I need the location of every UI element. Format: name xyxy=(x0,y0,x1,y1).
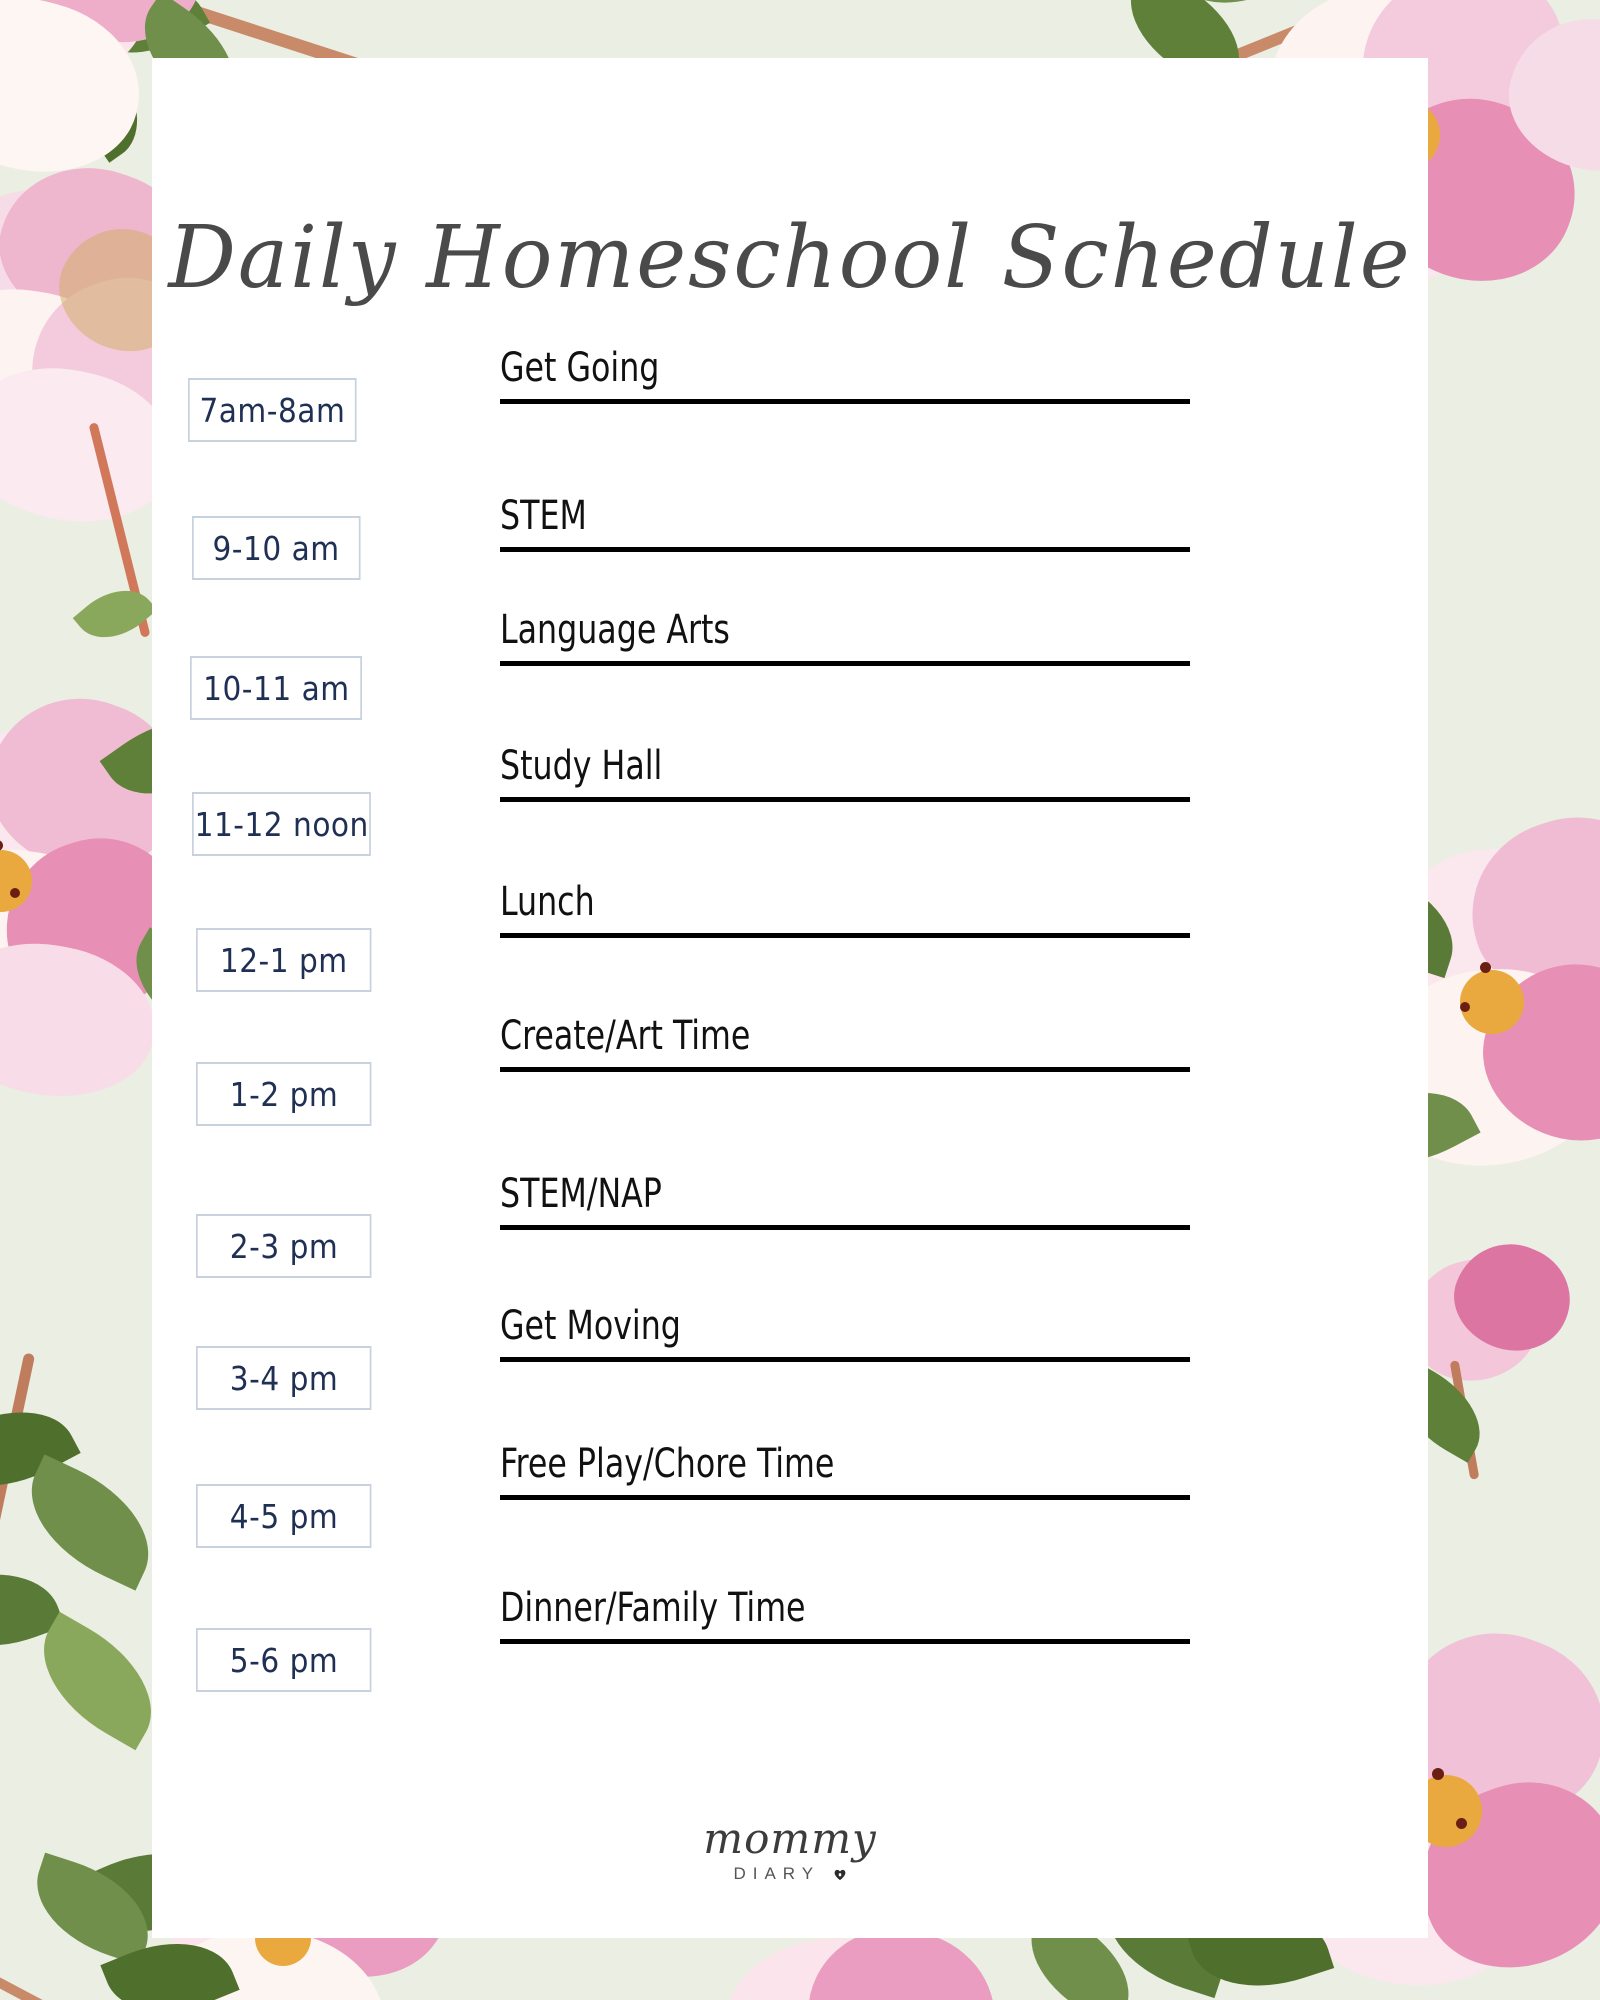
activity-entry[interactable]: Dinner/Family Time xyxy=(500,1588,1190,1644)
write-in-rule xyxy=(500,1067,1190,1072)
brand-logo-subtitle: DIARY xyxy=(733,1864,820,1884)
time-slot-label: 11-12 noon xyxy=(194,805,368,844)
time-slot-label: 4-5 pm xyxy=(230,1497,338,1536)
time-slot-box[interactable]: 9-10 am xyxy=(192,516,361,580)
activity-entry[interactable]: Get Going xyxy=(500,348,1190,404)
activity-label: Create/Art Time xyxy=(500,1016,1107,1056)
activity-entry[interactable]: Lunch xyxy=(500,882,1190,938)
activity-label: Lunch xyxy=(500,882,1107,922)
activity-entry[interactable]: Free Play/Chore Time xyxy=(500,1444,1190,1500)
time-slot-label: 12-1 pm xyxy=(220,941,348,980)
activity-entry[interactable]: Create/Art Time xyxy=(500,1016,1190,1072)
time-slot-label: 5-6 pm xyxy=(230,1641,338,1680)
activity-entry[interactable]: STEM/NAP xyxy=(500,1174,1190,1230)
time-slot-box[interactable]: 5-6 pm xyxy=(196,1628,371,1692)
time-slot-label: 1-2 pm xyxy=(230,1075,338,1114)
activity-label: Study Hall xyxy=(500,746,1107,786)
time-slot-label: 9-10 am xyxy=(213,529,340,568)
heart-lock-icon xyxy=(833,1867,847,1881)
activity-entry[interactable]: Study Hall xyxy=(500,746,1190,802)
time-slot-box[interactable]: 10-11 am xyxy=(190,656,362,720)
activity-label: Get Going xyxy=(500,348,1107,388)
time-slot-box[interactable]: 2-3 pm xyxy=(196,1214,371,1278)
write-in-rule xyxy=(500,1357,1190,1362)
poster-canvas: Daily Homeschool Schedule 7am-8am Get Go… xyxy=(0,0,1600,2000)
time-slot-label: 10-11 am xyxy=(203,669,349,708)
rosebud-right-lower xyxy=(1400,1240,1600,1460)
time-slot-label: 3-4 pm xyxy=(230,1359,338,1398)
time-slot-label: 7am-8am xyxy=(199,391,345,430)
time-slot-box[interactable]: 12-1 pm xyxy=(196,928,371,992)
page-title-wrap: Daily Homeschool Schedule xyxy=(152,208,1428,308)
write-in-rule xyxy=(500,1639,1190,1644)
write-in-rule xyxy=(500,933,1190,938)
activity-entry[interactable]: Get Moving xyxy=(500,1306,1190,1362)
write-in-rule xyxy=(500,399,1190,404)
time-slot-label: 2-3 pm xyxy=(230,1227,338,1266)
time-slot-box[interactable]: 11-12 noon xyxy=(192,792,371,856)
activity-label: Dinner/Family Time xyxy=(500,1588,1107,1628)
time-slot-box[interactable]: 4-5 pm xyxy=(196,1484,371,1548)
write-in-rule xyxy=(500,661,1190,666)
activity-label: Free Play/Chore Time xyxy=(500,1444,1107,1484)
write-in-rule xyxy=(500,1495,1190,1500)
write-in-rule xyxy=(500,797,1190,802)
activity-label: Get Moving xyxy=(500,1306,1107,1346)
page-title: Daily Homeschool Schedule xyxy=(165,208,1415,308)
brand-logo: mommy DIARY xyxy=(152,1818,1428,1884)
brand-logo-script: mommy xyxy=(152,1818,1428,1860)
activity-label: Language Arts xyxy=(500,610,1107,650)
activity-label: STEM xyxy=(500,496,1107,536)
activity-entry[interactable]: Language Arts xyxy=(500,610,1190,666)
write-in-rule xyxy=(500,1225,1190,1230)
time-slot-box[interactable]: 1-2 pm xyxy=(196,1062,371,1126)
printable-sheet: Daily Homeschool Schedule 7am-8am Get Go… xyxy=(152,58,1428,1938)
time-slot-box[interactable]: 7am-8am xyxy=(188,378,357,442)
write-in-rule xyxy=(500,547,1190,552)
time-slot-box[interactable]: 3-4 pm xyxy=(196,1346,371,1410)
activity-entry[interactable]: STEM xyxy=(500,496,1190,552)
activity-label: STEM/NAP xyxy=(500,1174,1107,1214)
